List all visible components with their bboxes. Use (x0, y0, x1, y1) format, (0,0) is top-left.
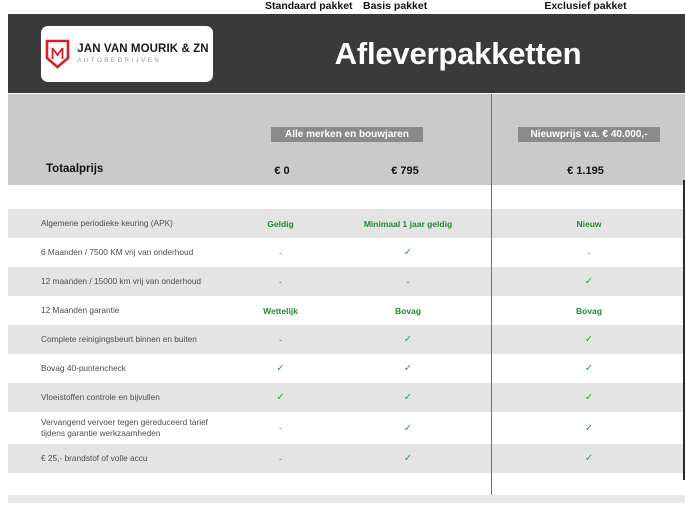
cell-value-text: Bovag (576, 306, 602, 316)
feature-label: Complete reinigingsbeurt binnen en buite… (8, 334, 238, 345)
cell-basis: ✓ (323, 423, 493, 434)
cell-exclusief: Nieuw (493, 219, 685, 229)
cell-standaard: - (238, 335, 323, 345)
cell-value-dash: - (279, 423, 282, 433)
logo-company-name: JAN VAN MOURIK & ZN (77, 44, 208, 56)
company-logo: JAN VAN MOURIK & ZN AUTOBEDRIJVEN (41, 26, 213, 82)
cell-basis: Minimaal 1 jaar geldig (323, 219, 493, 229)
cell-value-check: ✓ (404, 423, 412, 434)
feature-label: 6 Maanden / 7500 KM vrij van onderhoud (8, 247, 238, 258)
cell-exclusief: Bovag (493, 306, 685, 316)
cell-value-text: Minimaal 1 jaar geldig (364, 219, 452, 229)
table-row: 12 Maanden garantieWettelijkBovagBovag (8, 296, 685, 325)
price-standaard: € 0 (247, 165, 317, 177)
cell-exclusief: ✓ (493, 334, 685, 345)
cell-standaard: - (238, 248, 323, 258)
cell-exclusief: ✓ (493, 453, 685, 464)
cell-value-check: ✓ (585, 423, 593, 434)
cell-exclusief: - (493, 248, 685, 258)
cell-basis: - (323, 277, 493, 287)
column-header-standaard: Standaard pakket (265, 0, 353, 12)
shield-m-mark-icon (45, 39, 70, 69)
feature-label: Algemene periodieke keuring (APK) (8, 218, 238, 229)
badge-alle-merken: Alle merken en bouwjaren (271, 127, 423, 142)
logo-company-subtitle: AUTOBEDRIJVEN (77, 58, 208, 64)
exclusief-column-divider (491, 94, 492, 503)
cell-value-text: Bovag (395, 306, 421, 316)
cell-exclusief: ✓ (493, 276, 685, 287)
cell-basis: ✓ (323, 334, 493, 345)
feature-label: Vloeistoffen controle en bijvullen (8, 392, 238, 403)
cell-standaard: - (238, 423, 323, 433)
table-row: € 25,- brandstof of volle accu-✓✓ (8, 444, 685, 473)
table-row: 6 Maanden / 7500 KM vrij van onderhoud-✓… (8, 238, 685, 267)
page-title: Afleverpakketten (258, 14, 658, 93)
cell-value-check: ✓ (585, 334, 593, 345)
feature-label: 12 Maanden garantie (8, 305, 238, 316)
feature-label: Bovag 40-puntencheck (8, 363, 238, 374)
table-row: Complete reinigingsbeurt binnen en buite… (8, 325, 685, 354)
cell-value-check: ✓ (276, 363, 284, 374)
badge-nieuwprijs: Nieuwprijs v.a. € 40.000,- (518, 127, 660, 142)
cell-value-check: ✓ (585, 392, 593, 403)
cell-value-check: ✓ (585, 276, 593, 287)
logo-text-block: JAN VAN MOURIK & ZN AUTOBEDRIJVEN (77, 44, 208, 65)
cell-value-dash: - (279, 248, 282, 258)
feature-label: € 25,- brandstof of volle accu (8, 453, 238, 464)
cell-value-text: Nieuw (576, 219, 601, 229)
cell-value-check: ✓ (585, 453, 593, 464)
cell-value-check: ✓ (404, 453, 412, 464)
table-row: Bovag 40-puntencheck✓✓✓ (8, 354, 685, 383)
cell-basis: ✓ (323, 363, 493, 374)
column-header-exclusief: Exclusief pakket (495, 0, 676, 12)
cell-value-text: Geldig (267, 219, 293, 229)
cell-basis: ✓ (323, 453, 493, 464)
feature-label-line2: tijdens garantie werkzaamheden (41, 428, 238, 439)
afleverpakketten-page: JAN VAN MOURIK & ZN AUTOBEDRIJVEN Afleve… (0, 0, 685, 514)
table-row: Vervangend vervoer tegen gereduceerd tar… (8, 412, 685, 444)
cell-value-text: Wettelijk (263, 306, 298, 316)
cell-basis: ✓ (323, 392, 493, 403)
cell-value-check: ✓ (585, 363, 593, 374)
cell-exclusief: ✓ (493, 392, 685, 403)
cell-value-check: ✓ (404, 392, 412, 403)
cell-standaard: ✓ (238, 392, 323, 403)
column-header-basis: Basis pakket (363, 0, 427, 12)
cell-standaard: - (238, 277, 323, 287)
price-basis: € 795 (370, 165, 440, 177)
table-row: 12 maanden / 15000 km vrij van onderhoud… (8, 267, 685, 296)
feature-label-line1: Vervangend vervoer tegen gereduceerd tar… (41, 417, 238, 428)
cell-value-check: ✓ (404, 247, 412, 258)
cell-standaard: Geldig (238, 219, 323, 229)
feature-label: 12 maanden / 15000 km vrij van onderhoud (8, 276, 238, 287)
cell-basis: Bovag (323, 306, 493, 316)
cell-value-dash: - (279, 277, 282, 287)
feature-label: Vervangend vervoer tegen gereduceerd tar… (8, 417, 238, 440)
cell-value-dash: - (407, 277, 410, 287)
header-band: JAN VAN MOURIK & ZN AUTOBEDRIJVEN Afleve… (8, 14, 685, 93)
cell-basis: ✓ (323, 247, 493, 258)
cell-value-dash: - (279, 335, 282, 345)
cell-value-check: ✓ (404, 334, 412, 345)
cell-value-dash: - (279, 454, 282, 464)
cell-standaard: - (238, 454, 323, 464)
table-row: Vloeistoffen controle en bijvullen✓✓✓ (8, 383, 685, 412)
cell-exclusief: ✓ (493, 363, 685, 374)
table-top-spacer (8, 185, 685, 209)
cell-standaard: Wettelijk (238, 306, 323, 316)
cell-value-check: ✓ (276, 392, 284, 403)
cell-exclusief: ✓ (493, 423, 685, 434)
totaalprijs-label: Totaalprijs (46, 163, 103, 175)
price-exclusief: € 1.195 (495, 165, 676, 177)
table-row: Algemene periodieke keuring (APK)GeldigM… (8, 209, 685, 238)
bottom-strip (8, 495, 685, 503)
table-rows-host: Algemene periodieke keuring (APK)GeldigM… (8, 209, 685, 473)
cell-value-dash: - (588, 248, 591, 258)
feature-table: Algemene periodieke keuring (APK)GeldigM… (8, 185, 685, 503)
cell-standaard: ✓ (238, 363, 323, 374)
cell-value-check: ✓ (404, 363, 412, 374)
